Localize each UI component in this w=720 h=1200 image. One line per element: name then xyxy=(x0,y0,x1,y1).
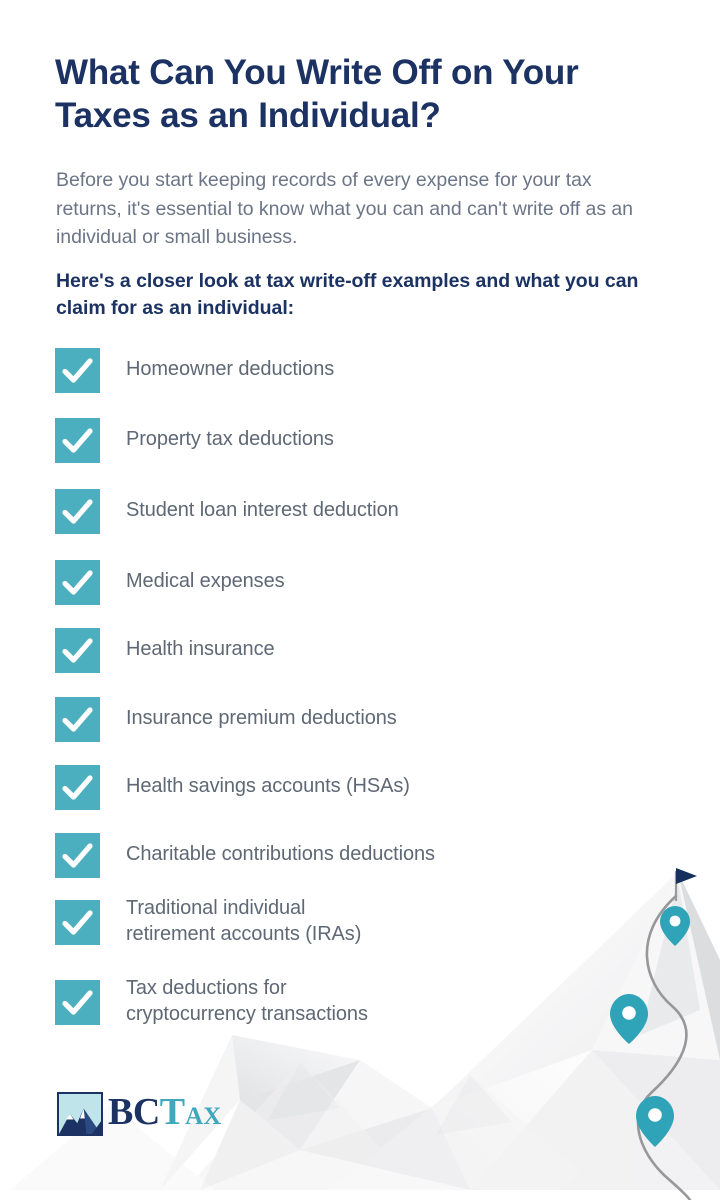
list-item: Medical expenses xyxy=(55,559,285,605)
map-pin-icon xyxy=(610,994,648,1044)
page-title: What Can You Write Off on Your Taxes as … xyxy=(55,52,675,137)
checkmark-icon xyxy=(55,348,100,393)
list-item-label: Tax deductions for cryptocurrency transa… xyxy=(126,976,368,1027)
intro-paragraph: Before you start keeping records of ever… xyxy=(56,166,646,252)
logo-wordmark: BCTAX xyxy=(105,1092,221,1149)
list-item-label: Medical expenses xyxy=(126,569,285,595)
logo-text-t: T xyxy=(160,1091,185,1133)
list-item-label: Homeowner deductions xyxy=(126,357,334,383)
list-item: Property tax deductions xyxy=(55,417,334,463)
checkmark-icon xyxy=(55,560,100,605)
checkmark-icon xyxy=(55,833,100,878)
checkmark-icon xyxy=(55,980,100,1025)
checkmark-icon xyxy=(55,900,100,945)
list-item-label: Property tax deductions xyxy=(126,427,334,453)
list-item-label: Insurance premium deductions xyxy=(126,706,397,732)
logo-text-ax: AX xyxy=(185,1103,221,1130)
bctax-logo[interactable]: BCTAX xyxy=(57,1092,221,1149)
map-pin-icon xyxy=(636,1096,674,1147)
lead-in-text: Here's a closer look at tax write-off ex… xyxy=(56,268,656,322)
list-item-label: Traditional individual retirement accoun… xyxy=(126,896,361,947)
checkmark-icon xyxy=(55,628,100,673)
summit-flag-icon xyxy=(676,868,697,900)
list-item-label: Charitable contributions deductions xyxy=(126,842,435,868)
list-item: Charitable contributions deductions xyxy=(55,832,435,878)
mountain-emblem-icon xyxy=(57,1092,103,1136)
trail-path xyxy=(638,896,690,1200)
list-item: Student loan interest deduction xyxy=(55,488,399,534)
list-item-label: Health savings accounts (HSAs) xyxy=(126,774,410,800)
list-item: Insurance premium deductions xyxy=(55,696,397,742)
checkmark-icon xyxy=(55,697,100,742)
checkmark-icon xyxy=(55,765,100,810)
logo-text-bc: BC xyxy=(108,1091,160,1133)
checkmark-icon xyxy=(55,418,100,463)
list-item-label: Health insurance xyxy=(126,637,275,663)
list-item: Homeowner deductions xyxy=(55,347,334,393)
list-item: Tax deductions for cryptocurrency transa… xyxy=(55,979,368,1025)
list-item-label: Student loan interest deduction xyxy=(126,498,399,524)
map-pin-icon xyxy=(660,906,690,946)
list-item: Health savings accounts (HSAs) xyxy=(55,764,410,810)
list-item: Traditional individual retirement accoun… xyxy=(55,899,361,945)
checkmark-icon xyxy=(55,489,100,534)
list-item: Health insurance xyxy=(55,627,275,673)
